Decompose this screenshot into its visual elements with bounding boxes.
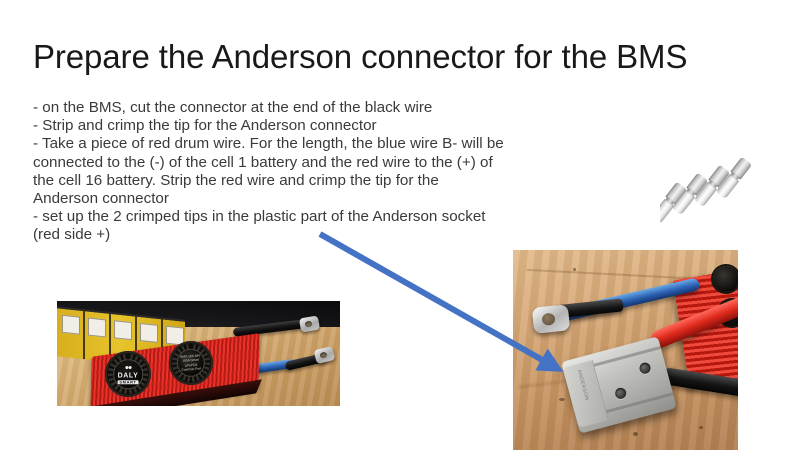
body-line: Anderson connector xyxy=(33,190,673,208)
body-line: - Take a piece of red drum wire. For the… xyxy=(33,135,673,153)
image-anderson-connector: ANDERSON xyxy=(513,250,738,450)
wood-speck xyxy=(573,268,576,271)
image-bms-on-bench: ●● DALY SMART BMS 16S 48V 100A Smart LiF… xyxy=(57,301,340,406)
wood-speck xyxy=(545,362,549,365)
body-line: (red side +) xyxy=(33,226,673,244)
bms-spec-label: BMS 16S 48V 100A Smart LiFePO4 Common Po… xyxy=(179,354,203,373)
cell-label xyxy=(88,318,106,338)
body-text-block: - on the BMS, cut the connector at the e… xyxy=(33,99,673,245)
image-crimp-terminals xyxy=(660,155,772,233)
body-line: - Strip and crimp the tip for the Anders… xyxy=(33,117,673,135)
wood-speck xyxy=(699,426,703,429)
ring-lug xyxy=(532,304,571,334)
bms-fan-right: BMS 16S 48V 100A Smart LiFePO4 Common Po… xyxy=(169,341,213,385)
housing-bolt-hole xyxy=(638,361,651,374)
cell-divider xyxy=(83,311,85,359)
body-line: connected to the (-) of the cell 1 batte… xyxy=(33,154,673,172)
cell-label xyxy=(140,323,158,343)
daly-logo: ●● DALY SMART xyxy=(117,365,138,385)
slide-canvas: Prepare the Anderson connector for the B… xyxy=(0,0,800,450)
daly-brand-sub: SMART xyxy=(117,380,138,384)
daly-brand-text: DALY xyxy=(118,372,139,379)
housing-bolt-hole xyxy=(614,387,627,400)
body-line: - on the BMS, cut the connector at the e… xyxy=(33,99,673,117)
body-line: - set up the 2 crimped tips in the plast… xyxy=(33,208,673,226)
daly-logo-mark: ●● xyxy=(117,365,138,372)
fan-hub: ●● DALY SMART xyxy=(113,359,143,389)
cell-label xyxy=(62,315,80,335)
wood-speck xyxy=(559,398,565,401)
body-line: the cell 16 battery. Strip the red wire … xyxy=(33,172,673,190)
page-title: Prepare the Anderson connector for the B… xyxy=(33,38,753,77)
cell-label xyxy=(114,320,132,340)
wood-speck xyxy=(633,432,638,436)
bms-fan-left: ●● DALY SMART xyxy=(105,351,151,397)
fan-hub: BMS 16S 48V 100A Smart LiFePO4 Common Po… xyxy=(177,349,205,377)
bms-fan-left xyxy=(713,266,738,292)
